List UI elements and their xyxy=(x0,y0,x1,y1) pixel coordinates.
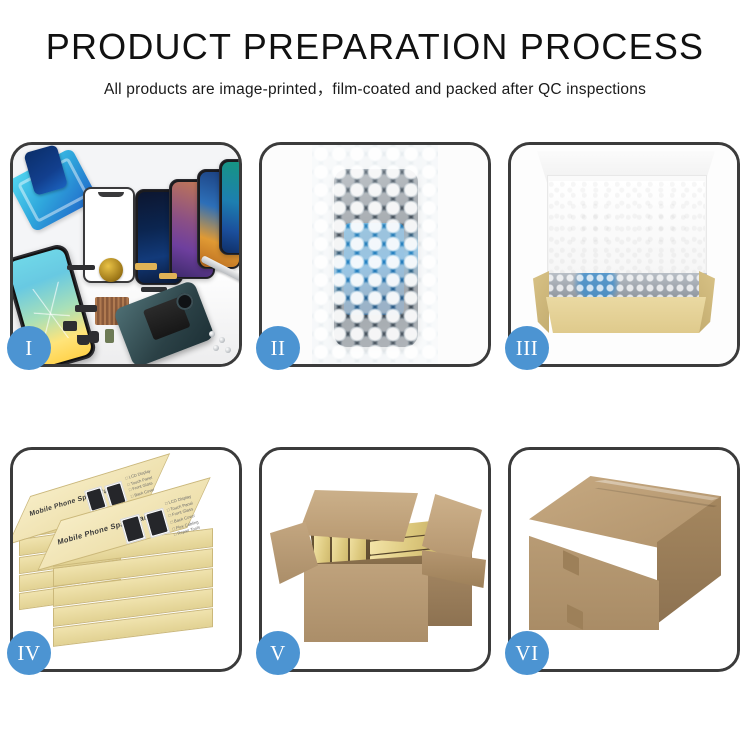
part-button-1 xyxy=(89,331,99,343)
white-foam-liner-icon xyxy=(549,181,705,275)
step-panel-6: VI xyxy=(508,447,740,672)
part-strip-2 xyxy=(75,305,97,312)
step-badge-4: IV xyxy=(7,631,51,675)
step-image-2 xyxy=(262,145,488,364)
step-panel-1: I xyxy=(10,142,242,367)
bubble-texture-overlay xyxy=(312,145,438,364)
page-subtitle: All products are image-printed，film-coat… xyxy=(0,77,750,99)
speaker-module-icon xyxy=(99,258,123,282)
phone-display-4 xyxy=(219,159,239,255)
part-strip-3 xyxy=(63,321,77,331)
bubble-wrap-bag-icon xyxy=(312,145,438,364)
step-badge-5: V xyxy=(256,631,300,675)
page-title: PRODUCT PREPARATION PROCESS xyxy=(0,28,750,66)
flex-cable-2 xyxy=(159,273,177,279)
step-badge-1: I xyxy=(7,326,51,370)
flex-cable-1 xyxy=(135,263,157,270)
step-image-4: Mobile Phone Spare Parts □ LCD Display□ … xyxy=(13,450,239,669)
part-connector xyxy=(77,335,90,345)
step-image-1 xyxy=(13,145,239,364)
step-image-6 xyxy=(511,450,737,669)
product-preparation-infographic: PRODUCT PREPARATION PROCESS All products… xyxy=(0,0,750,750)
step-image-5 xyxy=(262,450,488,669)
step-panel-4: Mobile Phone Spare Parts □ LCD Display□ … xyxy=(10,447,242,672)
yellow-box-base-icon xyxy=(539,297,713,333)
open-shipping-carton-icon xyxy=(276,480,474,650)
step-panel-3: III xyxy=(508,142,740,367)
carton-front-face xyxy=(304,564,428,642)
steps-grid: I II xyxy=(10,142,740,672)
bubble-wrapped-item-icon xyxy=(545,273,707,299)
part-button-2 xyxy=(105,329,114,343)
stacked-retail-boxes-icon: Mobile Phone Spare Parts □ LCD Display□ … xyxy=(13,450,239,669)
part-strip-1 xyxy=(67,265,95,270)
step-panel-2: II xyxy=(259,142,491,367)
step-image-3 xyxy=(511,145,737,364)
step-badge-2: II xyxy=(256,326,300,370)
carton-flap-back xyxy=(298,490,418,542)
step-panel-5: V xyxy=(259,447,491,672)
step-badge-3: III xyxy=(505,326,549,370)
sealed-shipping-carton-icon xyxy=(529,476,721,648)
header: PRODUCT PREPARATION PROCESS All products… xyxy=(0,0,750,99)
step-badge-6: VI xyxy=(505,631,549,675)
